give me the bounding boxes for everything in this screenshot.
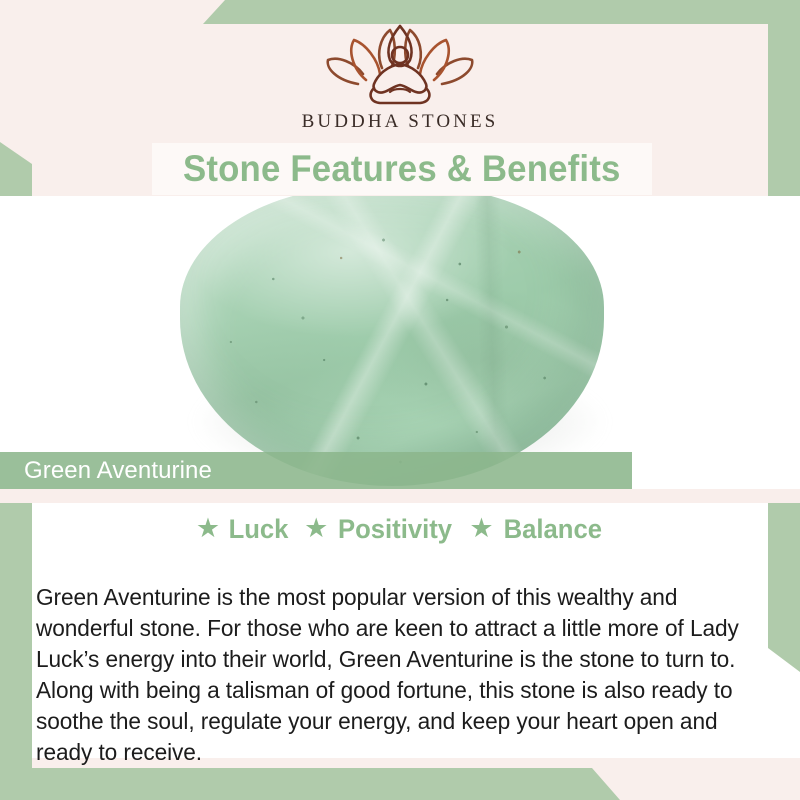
benefit-label: Luck xyxy=(229,516,289,543)
brand-name: BUDDHA STONES xyxy=(0,112,800,131)
star-icon: ★ xyxy=(196,515,220,542)
benefits-row: ★ Luck ★ Positivity ★ Balance xyxy=(0,516,800,543)
benefit-item-luck: ★ Luck xyxy=(196,516,290,543)
benefit-item-positivity: ★ Positivity xyxy=(304,516,455,543)
star-icon: ★ xyxy=(304,515,328,542)
stone-photo xyxy=(0,196,800,492)
cream-separator-strip xyxy=(0,489,800,503)
stone-name-bar: Green Aventurine xyxy=(0,452,632,490)
page-title: Stone Features & Benefits xyxy=(183,148,621,190)
benefit-label: Balance xyxy=(503,516,601,543)
benefit-item-balance: ★ Balance xyxy=(469,516,604,543)
benefit-label: Positivity xyxy=(338,516,452,543)
stone-name-label: Green Aventurine xyxy=(24,459,212,483)
stone-info-poster: BUDDHA STONES Stone Features & Benefits … xyxy=(0,0,800,800)
stone-description: Green Aventurine is the most popular ver… xyxy=(36,582,752,768)
star-icon: ★ xyxy=(469,515,493,542)
page-title-banner: Stone Features & Benefits xyxy=(152,143,652,195)
lotus-meditation-figure-icon xyxy=(316,22,484,106)
brand-logo: BUDDHA STONES xyxy=(0,22,800,131)
